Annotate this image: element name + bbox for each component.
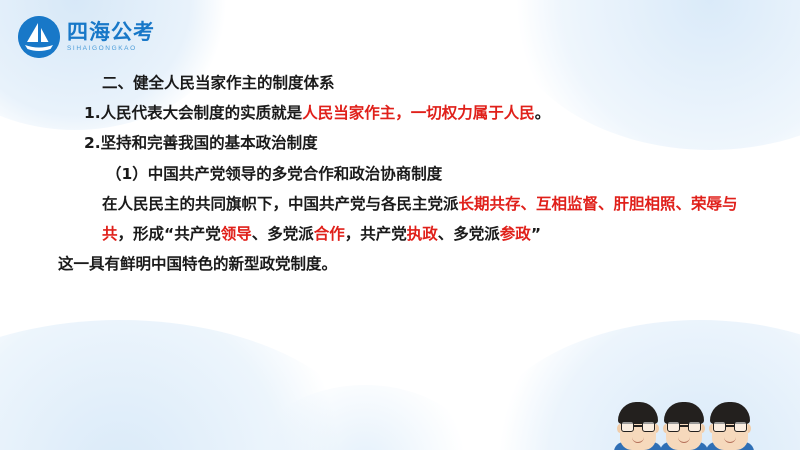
paragraph-seg-6: 、多党派 (252, 225, 314, 243)
paragraph-body: 在人民民主的共同旗帜下，中国共产党与各民主党派长期共存、互相监督、肝胆相照、荣辱… (58, 189, 758, 249)
glasses-icon (621, 421, 655, 432)
glasses-bridge (726, 425, 734, 427)
glasses-lens-right (688, 421, 701, 432)
point-1-text-tail: 。 (535, 104, 551, 122)
slide-body: 二、健全人民当家作主的制度体系 1.人民代表大会制度的实质就是人民当家作主，一切… (58, 68, 758, 280)
paragraph-seg-5-highlight: 领导 (221, 225, 252, 243)
point-2-text: 2.坚持和完善我国的基本政治制度 (84, 134, 318, 152)
brand-logo: 四海公考 SIHAIGONGKAO (18, 16, 155, 58)
paragraph-seg-11-highlight: 参政 (500, 225, 531, 243)
avatar-group (616, 402, 752, 450)
avatar-person-2 (662, 402, 706, 450)
glasses-lens-left (713, 421, 726, 432)
point-2: 2.坚持和完善我国的基本政治制度 (58, 128, 758, 158)
glasses-lens-left (667, 421, 680, 432)
glasses-lens-right (734, 421, 747, 432)
sailboat-logo-icon (18, 16, 60, 58)
brand-name-cn: 四海公考 (67, 22, 155, 43)
paragraph-seg-8: ，共产党 (345, 225, 407, 243)
paragraph-body-last-line: 这一具有鲜明中国特色的新型政党制度。 (58, 249, 758, 279)
slide-canvas: 四海公考 SIHAIGONGKAO 二、健全人民当家作主的制度体系 1.人民代表… (0, 0, 800, 450)
section-heading: 二、健全人民当家作主的制度体系 (58, 68, 758, 98)
paragraph-seg-7-highlight: 合作 (314, 225, 345, 243)
section-heading-text: 二、健全人民当家作主的制度体系 (102, 74, 335, 92)
paragraph-seg-1: 在人民民主的共同旗帜下，中国共产党与各民主党派 (102, 195, 459, 213)
glasses-bridge (680, 425, 688, 427)
background-blob-bottom-center (250, 385, 480, 450)
glasses-icon (667, 421, 701, 432)
point-2-sub-1: （1）中国共产党领导的多党合作和政治协商制度 (58, 159, 758, 189)
paragraph-seg-10: 、多党派 (438, 225, 500, 243)
glasses-lens-right (642, 421, 655, 432)
paragraph-last-line-text: 这一具有鲜明中国特色的新型政党制度。 (58, 255, 337, 273)
paragraph-seg-4: ，形成“共产党 (118, 225, 221, 243)
glasses-lens-left (621, 421, 634, 432)
paragraph-seg-12: ” (531, 225, 541, 243)
brand-logo-text: 四海公考 SIHAIGONGKAO (67, 22, 155, 53)
background-blob-bottom-left (0, 320, 380, 450)
paragraph-seg-9-highlight: 执政 (407, 225, 438, 243)
paragraph-seg-2-highlight: 长期共存、互相监督、肝 (459, 195, 630, 213)
avatar-person-3 (708, 402, 752, 450)
brand-name-en: SIHAIGONGKAO (67, 46, 155, 53)
glasses-bridge (634, 425, 642, 427)
point-1-text-highlight: 人民当家作主，一切权力属于人民 (302, 104, 535, 122)
point-1: 1.人民代表大会制度的实质就是人民当家作主，一切权力属于人民。 (58, 98, 758, 128)
point-1-text-plain: 1.人民代表大会制度的实质就是 (84, 104, 302, 122)
point-2-sub-1-text: （1）中国共产党领导的多党合作和政治协商制度 (106, 165, 442, 183)
avatar-person-1 (616, 402, 660, 450)
glasses-icon (713, 421, 747, 432)
